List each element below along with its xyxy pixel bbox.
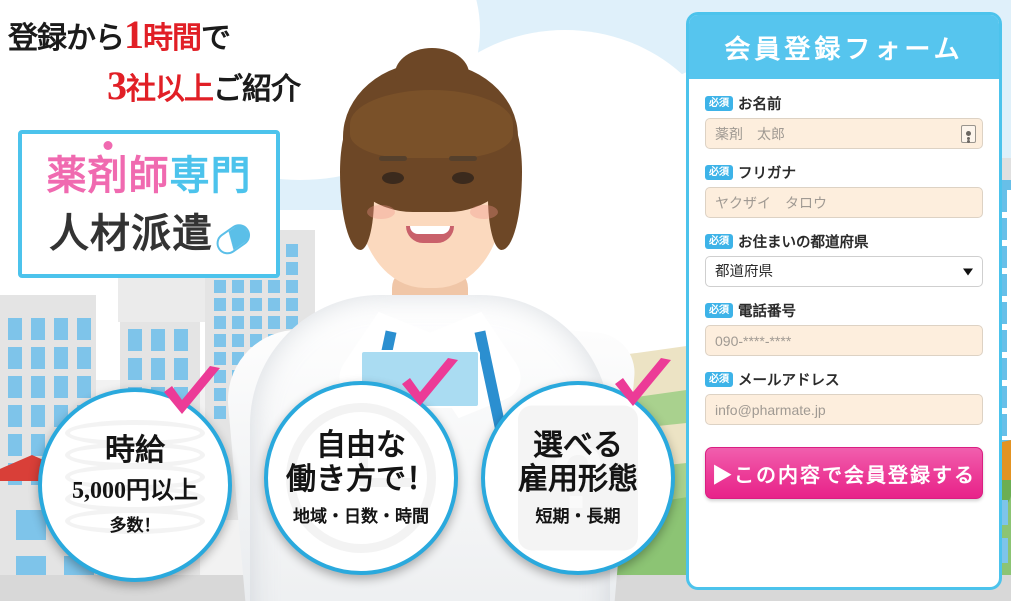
headline-line1-post: で (201, 22, 230, 55)
field-full-name: 必須 お名前 (705, 93, 983, 149)
check-icon (160, 366, 224, 422)
label-text-phone: 電話番号 (738, 300, 796, 321)
submit-registration-button[interactable]: ▶この内容で会員登録する (705, 447, 983, 499)
field-label-furigana: 必須 フリガナ (705, 162, 983, 183)
badge-1-main: 時給 (105, 434, 165, 468)
label-text-full-name: お名前 (738, 93, 782, 114)
required-badge: 必須 (705, 96, 733, 111)
form-title: 会員登録フォーム (724, 29, 963, 66)
check-icon (611, 358, 675, 414)
label-text-furigana: フリガナ (738, 162, 796, 183)
field-prefecture: 必須 お住まいの都道府県 都道府県 (705, 231, 983, 287)
email-input[interactable] (705, 394, 983, 425)
field-label-prefecture: 必須 お住まいの都道府県 (705, 231, 983, 252)
headline-line2-number: 3 (107, 63, 126, 108)
form-header: 会員登録フォーム (689, 15, 999, 79)
logo-line-1: 薬剤師専門 (22, 156, 276, 196)
logo-pharmacist-text: 薬剤師 (47, 154, 170, 198)
logo-specialist-text: 専門 (170, 154, 252, 198)
headline-line1-number: 1 (124, 12, 143, 57)
form-body: 必須 お名前 必須 フリガナ (689, 79, 999, 499)
contact-card-icon[interactable] (961, 125, 976, 143)
field-furigana: 必須 フリガナ (705, 162, 983, 218)
badge-2-sub: 地域・日数・時間 (293, 502, 429, 527)
badge-3-sub: 短期・長期 (536, 502, 621, 527)
field-email: 必須 メールアドレス (705, 369, 983, 425)
headline-line-1: 登録から1時間で (8, 10, 338, 60)
logo-staffing-text: 人材派遣 (49, 212, 213, 256)
field-label-full-name: 必須 お名前 (705, 93, 983, 114)
prefecture-select[interactable]: 都道府県 (705, 256, 983, 287)
required-badge: 必須 (705, 234, 733, 249)
badge-3-main-line1: 選べる (533, 429, 623, 463)
pill-icon (212, 220, 254, 259)
label-text-prefecture: お住まいの都道府県 (738, 231, 869, 252)
badge-3-main-line2: 雇用形態 (518, 463, 638, 497)
badge-1-mid: 5,000円以上 (72, 470, 198, 505)
headline: 登録から1時間で 3社以上ご紹介 (8, 10, 338, 112)
field-phone: 必須 電話番号 (705, 300, 983, 356)
headline-line1-pre: 登録から (8, 22, 124, 55)
required-badge: 必須 (705, 303, 733, 318)
field-label-phone: 必須 電話番号 (705, 300, 983, 321)
required-badge: 必須 (705, 372, 733, 387)
logo-line-2: 人材派遣 (22, 214, 276, 254)
registration-form-panel: 会員登録フォーム 必須 お名前 必須 フリガナ (686, 12, 1002, 590)
badge-2-main-line2: 働き方で！ (286, 463, 436, 497)
headline-line2-mid: 社以上 (126, 73, 213, 106)
label-text-email: メールアドレス (738, 369, 840, 390)
required-badge: 必須 (705, 165, 733, 180)
full-name-input[interactable] (705, 118, 983, 149)
furigana-input[interactable] (705, 187, 983, 218)
landing-page: 登録から1時間で 3社以上ご紹介 薬剤師専門 人材派遣 時給 5,000円以上 … (0, 0, 1011, 601)
badge-2-main-line1: 自由な (316, 429, 406, 463)
phone-input[interactable] (705, 325, 983, 356)
service-logo-box: 薬剤師専門 人材派遣 (18, 130, 280, 278)
field-label-email: 必須 メールアドレス (705, 369, 983, 390)
headline-line-2: 3社以上ご紹介 (8, 60, 338, 112)
badge-1-sub: 多数！ (110, 511, 161, 536)
headline-line1-mid: 時間 (143, 22, 201, 55)
check-icon (398, 358, 462, 414)
headline-line2-post: ご紹介 (213, 73, 300, 106)
